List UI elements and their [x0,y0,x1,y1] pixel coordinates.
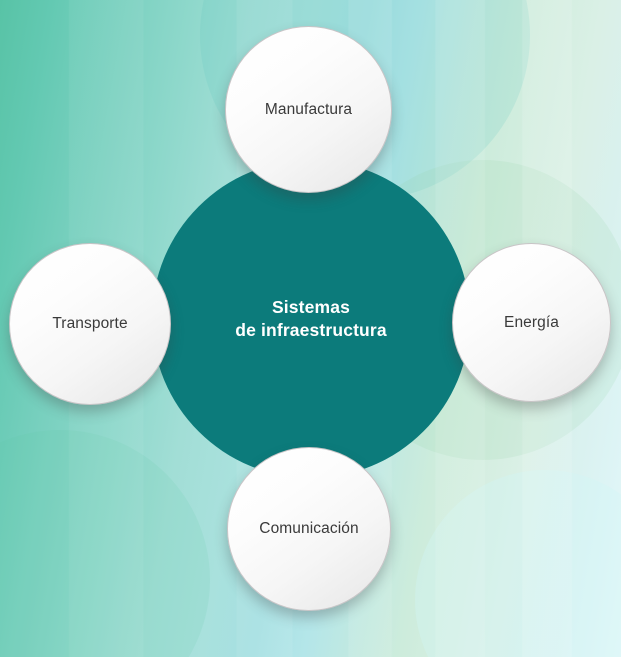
node-comunicacion[interactable]: Comunicación [227,447,391,611]
node-manufactura[interactable]: Manufactura [225,26,392,193]
diagram-canvas: Sistemas de infraestructura Manufactura … [0,0,621,657]
center-hub-circle[interactable]: Sistemas de infraestructura [152,160,470,478]
node-comunicacion-label: Comunicación [259,519,358,538]
node-transporte[interactable]: Transporte [9,243,171,405]
center-hub-label: Sistemas de infraestructura [152,160,470,478]
node-manufactura-label: Manufactura [265,100,352,119]
center-hub-label-line1: Sistemas [272,296,350,319]
node-transporte-label: Transporte [52,314,127,333]
node-energia[interactable]: Energía [452,243,611,402]
center-hub-label-line2: de infraestructura [235,319,387,342]
node-energia-label: Energía [504,313,559,332]
